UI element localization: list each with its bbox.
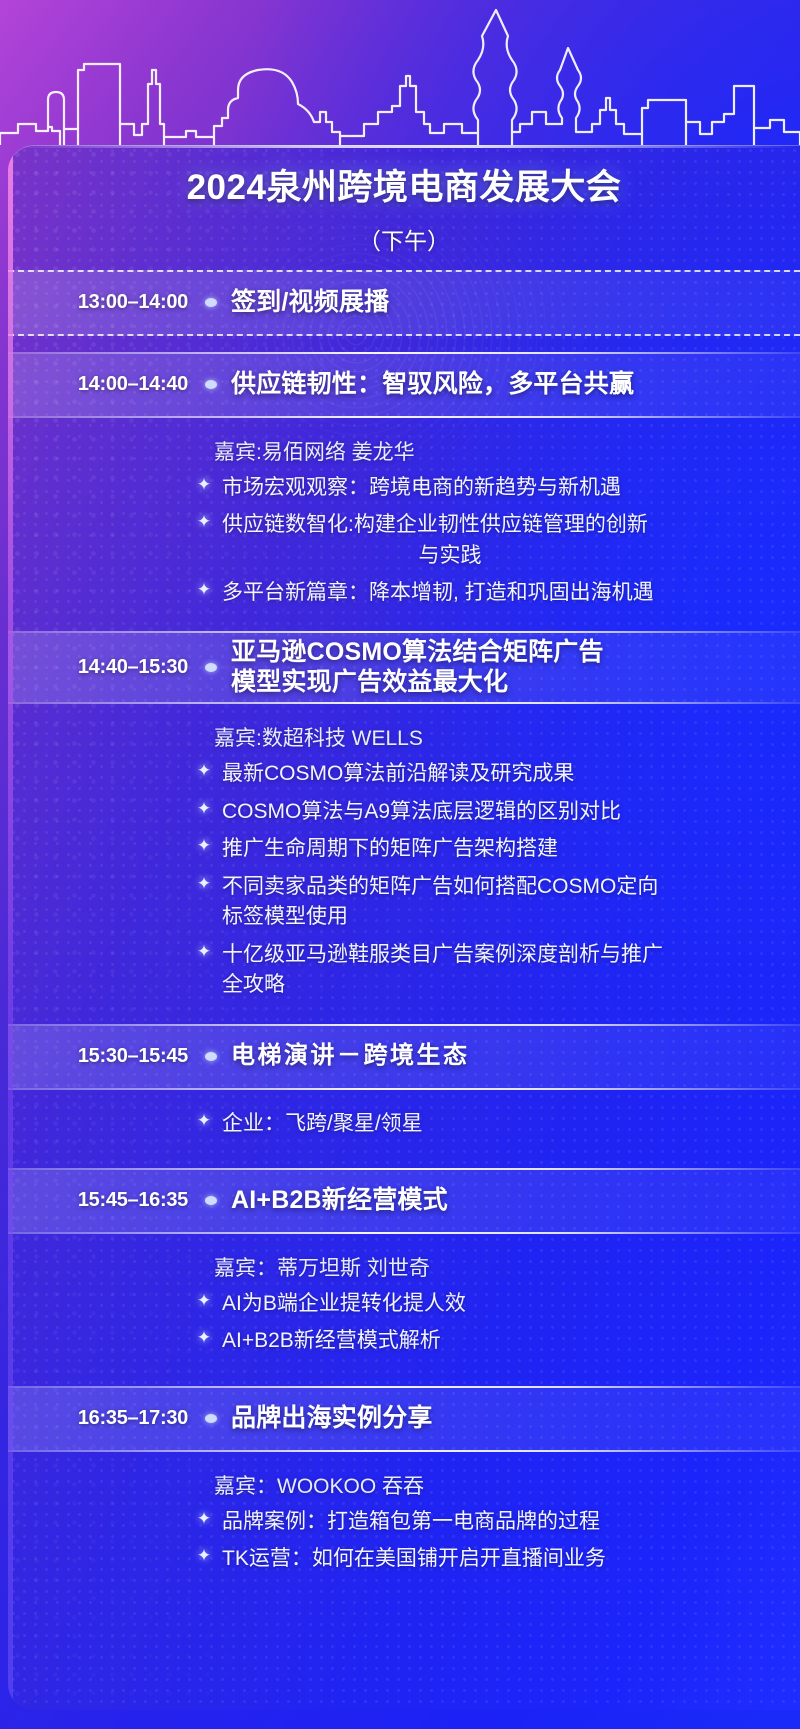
sparkle-icon: ✦ <box>194 1109 214 1134</box>
session-bullet-dot <box>205 1052 217 1061</box>
session-guest: 嘉宾：WOOKOO 吞吞 <box>214 1470 800 1500</box>
list-item: ✦ 推广生命周期下的矩阵广告架构搭建 <box>8 834 800 864</box>
session-time: 14:00–14:40 <box>8 373 200 396</box>
session-header-row[interactable]: 14:00–14:40 供应链韧性：智驭风险，多平台共赢 <box>8 352 800 418</box>
list-item-text-cont: 与实践 <box>222 541 798 571</box>
session-header-row[interactable]: 14:40–15:30 亚马逊COSMO算法结合矩阵广告模型实现广告效益最大化 <box>8 631 800 704</box>
session-header-row[interactable]: 15:45–16:35 AI+B2B新经营模式 <box>8 1168 800 1234</box>
session-bullet-dot <box>205 1196 217 1205</box>
session-header-row[interactable]: 16:35–17:30 品牌出海实例分享 <box>8 1386 800 1452</box>
session-time: 15:30–15:45 <box>8 1045 200 1068</box>
session-bullet-dot <box>205 663 217 672</box>
sparkle-icon: ✦ <box>194 872 214 897</box>
sparkle-icon: ✦ <box>194 510 214 535</box>
session-block: 15:30–15:45 电梯演讲－跨境生态 ✦ 企业：飞跨/聚星/领星 <box>8 1024 800 1162</box>
session-header-row[interactable]: 13:00–14:00 签到/视频展播 <box>8 270 800 336</box>
sparkle-icon: ✦ <box>194 1289 214 1314</box>
session-guest: 嘉宾:易佰网络 姜龙华 <box>214 436 800 466</box>
list-item-text: AI+B2B新经营模式解析 <box>214 1326 800 1356</box>
list-item-text: 市场宏观观察：跨境电商的新趋势与新机遇 <box>214 473 800 503</box>
sparkle-icon: ✦ <box>194 578 214 603</box>
sparkle-icon: ✦ <box>194 473 214 498</box>
list-item-text: TK运营：如何在美国铺开启开直播间业务 <box>214 1544 800 1574</box>
list-item: ✦ AI为B端企业提转化提人效 <box>8 1289 800 1319</box>
list-item-text: 十亿级亚马逊鞋服类目广告案例深度剖析与推广全攻略 <box>214 940 800 1001</box>
session-time: 16:35–17:30 <box>8 1407 200 1430</box>
list-item: ✦ 市场宏观观察：跨境电商的新趋势与新机遇 <box>8 473 800 503</box>
session-title: AI+B2B新经营模式 <box>231 1186 800 1216</box>
session-bullet-dot <box>205 380 217 389</box>
sparkle-icon: ✦ <box>194 1326 214 1351</box>
session-block: 14:40–15:30 亚马逊COSMO算法结合矩阵广告模型实现广告效益最大化 … <box>8 631 800 1023</box>
list-item-text: 企业：飞跨/聚星/领星 <box>214 1109 800 1139</box>
session-details: 嘉宾:数超科技 WELLS ✦ 最新COSMO算法前沿解读及研究成果 ✦ COS… <box>8 704 800 1023</box>
session-details: 嘉宾：蒂万坦斯 刘世奇 ✦ AI为B端企业提转化提人效 ✦ AI+B2B新经营模… <box>8 1234 800 1380</box>
session-bullet-dot <box>205 298 217 307</box>
session-time: 14:40–15:30 <box>8 656 200 679</box>
list-item: ✦ 多平台新篇章：降本增韧, 打造和巩固出海机遇 <box>8 578 800 608</box>
sparkle-icon: ✦ <box>194 940 214 965</box>
session-details: 嘉宾:易佰网络 姜龙华 ✦ 市场宏观观察：跨境电商的新趋势与新机遇 ✦ 供应链数… <box>8 418 800 632</box>
list-item-text: 供应链数智化:构建企业韧性供应链管理的创新与实践 <box>214 510 800 571</box>
list-item-text: 品牌案例：打造箱包第一电商品牌的过程 <box>214 1507 800 1537</box>
list-item: ✦ 品牌案例：打造箱包第一电商品牌的过程 <box>8 1507 800 1537</box>
session-block: 13:00–14:00 签到/视频展播 <box>8 270 800 336</box>
sparkle-icon: ✦ <box>194 759 214 784</box>
session-details: ✦ 企业：飞跨/聚星/领星 <box>8 1090 800 1162</box>
conference-agenda-poster: 2024泉州跨境电商发展大会 （下午） 13:00–14:00 签到/视频展播 … <box>0 0 800 1729</box>
list-item: ✦ TK运营：如何在美国铺开启开直播间业务 <box>8 1544 800 1574</box>
list-item-text-cont: 标签模型使用 <box>222 902 798 932</box>
session-title: 品牌出海实例分享 <box>231 1404 800 1434</box>
list-item-text: COSMO算法与A9算法底层逻辑的区别对比 <box>214 797 800 827</box>
session-details: 嘉宾：WOOKOO 吞吞 ✦ 品牌案例：打造箱包第一电商品牌的过程 ✦ TK运营… <box>8 1452 800 1598</box>
session-title: 电梯演讲－跨境生态 <box>231 1042 800 1070</box>
session-title: 亚马逊COSMO算法结合矩阵广告模型实现广告效益最大化 <box>231 638 800 697</box>
list-item: ✦ 企业：飞跨/聚星/领星 <box>8 1109 800 1139</box>
session-title: 签到/视频展播 <box>231 288 800 318</box>
list-item: ✦ 最新COSMO算法前沿解读及研究成果 <box>8 759 800 789</box>
list-item: ✦ COSMO算法与A9算法底层逻辑的区别对比 <box>8 797 800 827</box>
title-band: 2024泉州跨境电商发展大会 （下午） <box>8 145 800 270</box>
list-item-text: 推广生命周期下的矩阵广告架构搭建 <box>214 834 800 864</box>
session-block: 14:00–14:40 供应链韧性：智驭风险，多平台共赢 嘉宾:易佰网络 姜龙华… <box>8 352 800 632</box>
session-block: 16:35–17:30 品牌出海实例分享 嘉宾：WOOKOO 吞吞 ✦ 品牌案例… <box>8 1386 800 1598</box>
list-item: ✦ 十亿级亚马逊鞋服类目广告案例深度剖析与推广全攻略 <box>8 940 800 1001</box>
page-title: 2024泉州跨境电商发展大会 <box>8 167 800 210</box>
session-time: 15:45–16:35 <box>8 1189 200 1212</box>
list-item: ✦ AI+B2B新经营模式解析 <box>8 1326 800 1356</box>
list-item: ✦ 供应链数智化:构建企业韧性供应链管理的创新与实践 <box>8 510 800 571</box>
session-guest: 嘉宾:数超科技 WELLS <box>214 722 800 752</box>
list-item-text: 不同卖家品类的矩阵广告如何搭配COSMO定向标签模型使用 <box>214 872 800 933</box>
sparkle-icon: ✦ <box>194 834 214 859</box>
session-time: 13:00–14:00 <box>8 291 200 314</box>
session-header-row[interactable]: 15:30–15:45 电梯演讲－跨境生态 <box>8 1024 800 1090</box>
sparkle-icon: ✦ <box>194 1507 214 1532</box>
list-item-text-cont: 全攻略 <box>222 970 798 1000</box>
page-subtitle: （下午） <box>8 222 800 256</box>
list-item-text: 最新COSMO算法前沿解读及研究成果 <box>214 759 800 789</box>
list-item: ✦ 不同卖家品类的矩阵广告如何搭配COSMO定向标签模型使用 <box>8 872 800 933</box>
session-guest: 嘉宾：蒂万坦斯 刘世奇 <box>214 1252 800 1282</box>
session-title: 供应链韧性：智驭风险，多平台共赢 <box>231 370 800 400</box>
list-item-text: 多平台新篇章：降本增韧, 打造和巩固出海机遇 <box>214 578 800 608</box>
city-skyline-icon <box>0 0 800 145</box>
list-item-text: AI为B端企业提转化提人效 <box>214 1289 800 1319</box>
session-block: 15:45–16:35 AI+B2B新经营模式 嘉宾：蒂万坦斯 刘世奇 ✦ AI… <box>8 1168 800 1380</box>
session-bullet-dot <box>205 1414 217 1423</box>
agenda-card: 2024泉州跨境电商发展大会 （下午） 13:00–14:00 签到/视频展播 … <box>8 145 800 1710</box>
sparkle-icon: ✦ <box>194 797 214 822</box>
sparkle-icon: ✦ <box>194 1544 214 1569</box>
